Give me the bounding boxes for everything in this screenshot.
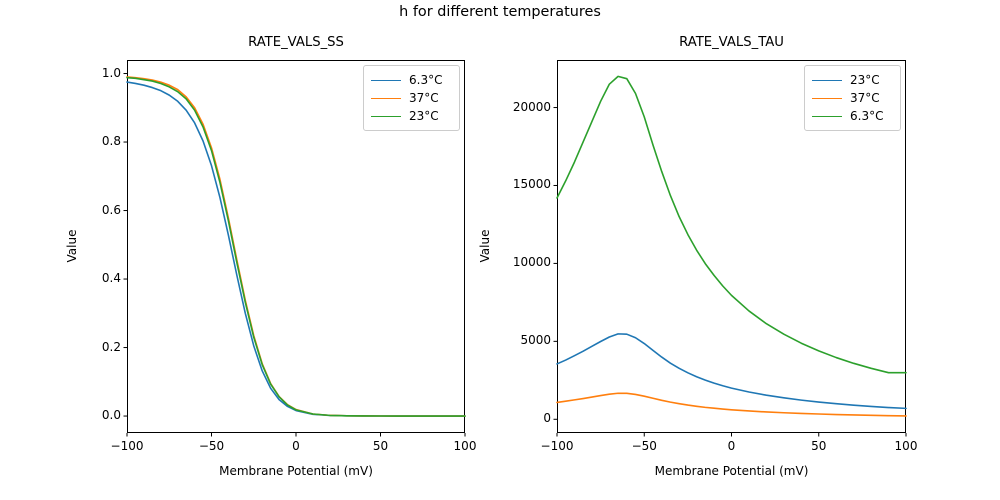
matplotlib-figure: h for different temperatures RATE_VALS_S…: [0, 0, 1000, 500]
y-tick-label: 5000: [481, 333, 551, 347]
legend-left[interactable]: 6.3°C37°C23°C: [363, 65, 460, 131]
legend-swatch-23C: [371, 116, 401, 117]
x-tick-label: −50: [182, 439, 242, 453]
x-tick-label: −50: [614, 439, 674, 453]
legend-swatch-23C: [812, 80, 842, 81]
y-axis-label-left: Value: [65, 166, 79, 326]
x-tick-label: 100: [435, 439, 495, 453]
legend-entry[interactable]: 37°C: [812, 89, 893, 107]
x-tick-label: 0: [266, 439, 326, 453]
legend-label: 6.3°C: [409, 71, 442, 89]
y-tick-label: 0.4: [51, 271, 121, 285]
x-axis-label-right: Membrane Potential (mV): [557, 464, 906, 478]
y-tick-label: 0.2: [51, 340, 121, 354]
x-tick-label: 50: [789, 439, 849, 453]
y-tick-label: 0.6: [51, 203, 121, 217]
x-tick-label: −100: [527, 439, 587, 453]
axes-title-left: RATE_VALS_SS: [127, 35, 465, 50]
x-tick-label: 100: [876, 439, 936, 453]
legend-swatch-37C: [371, 98, 401, 99]
legend-label: 37°C: [409, 89, 439, 107]
y-tick-label: 1.0: [51, 66, 121, 80]
legend-label: 6.3°C: [850, 107, 883, 125]
x-axis-label-left: Membrane Potential (mV): [127, 464, 465, 478]
y-tick-label: 15000: [481, 177, 551, 191]
data-line-6.3C: [127, 82, 465, 416]
legend-label: 23°C: [409, 107, 439, 125]
x-tick-label: −100: [97, 439, 157, 453]
axes-title-right: RATE_VALS_TAU: [557, 35, 906, 50]
y-tick-label: 20000: [481, 100, 551, 114]
x-tick-label: 0: [702, 439, 762, 453]
y-tick-label: 0.8: [51, 134, 121, 148]
legend-swatch-6.3C: [371, 80, 401, 81]
y-tick-label: 0: [481, 411, 551, 425]
y-tick-label: 0.0: [51, 408, 121, 422]
legend-swatch-6.3C: [812, 116, 842, 117]
y-tick-label: 10000: [481, 255, 551, 269]
legend-entry[interactable]: 23°C: [371, 107, 452, 125]
legend-entry[interactable]: 6.3°C: [371, 71, 452, 89]
legend-label: 37°C: [850, 89, 880, 107]
x-tick-label: 50: [351, 439, 411, 453]
legend-swatch-37C: [812, 98, 842, 99]
legend-right[interactable]: 23°C37°C6.3°C: [804, 65, 901, 131]
data-line-23C: [557, 334, 906, 409]
figure-suptitle: h for different temperatures: [0, 4, 1000, 20]
legend-entry[interactable]: 6.3°C: [812, 107, 893, 125]
legend-entry[interactable]: 23°C: [812, 71, 893, 89]
legend-entry[interactable]: 37°C: [371, 89, 452, 107]
legend-label: 23°C: [850, 71, 880, 89]
